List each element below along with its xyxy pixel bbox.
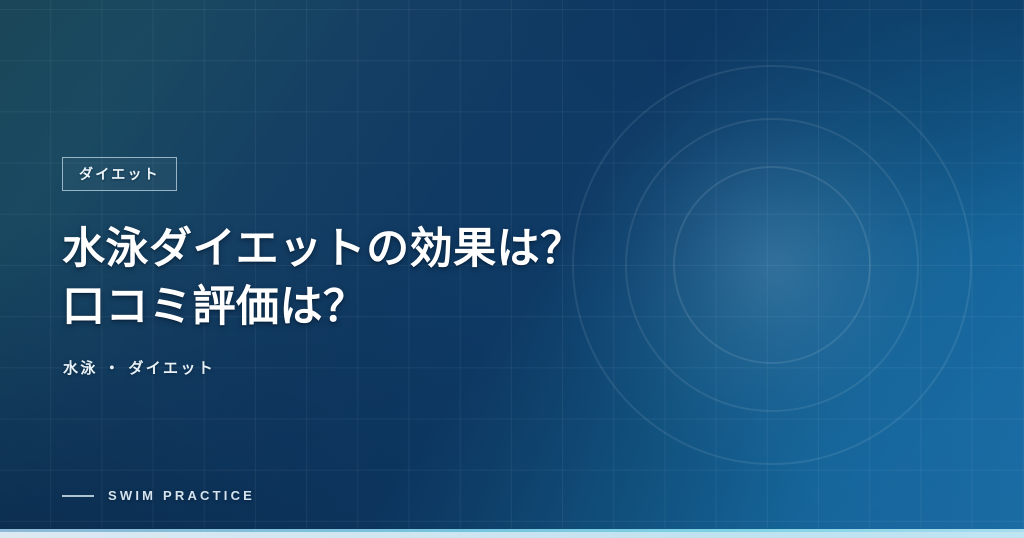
base-strip	[0, 532, 1024, 538]
category-badge[interactable]: ダイエット	[62, 157, 177, 191]
subtitle-tags: 水泳 ・ ダイエット	[63, 357, 215, 378]
dash-icon	[62, 495, 94, 497]
banner-content: ダイエット 水泳ダイエットの効果は？ 口コミ評価は？ 水泳 ・ ダイエット SW…	[62, 0, 762, 538]
page-title: 水泳ダイエットの効果は？ 口コミ評価は？	[62, 221, 584, 337]
hero-banner: ダイエット 水泳ダイエットの効果は？ 口コミ評価は？ 水泳 ・ ダイエット SW…	[0, 0, 1024, 538]
brand-label: SWIM PRACTICE	[108, 488, 255, 503]
footer-brand: SWIM PRACTICE	[62, 488, 255, 503]
